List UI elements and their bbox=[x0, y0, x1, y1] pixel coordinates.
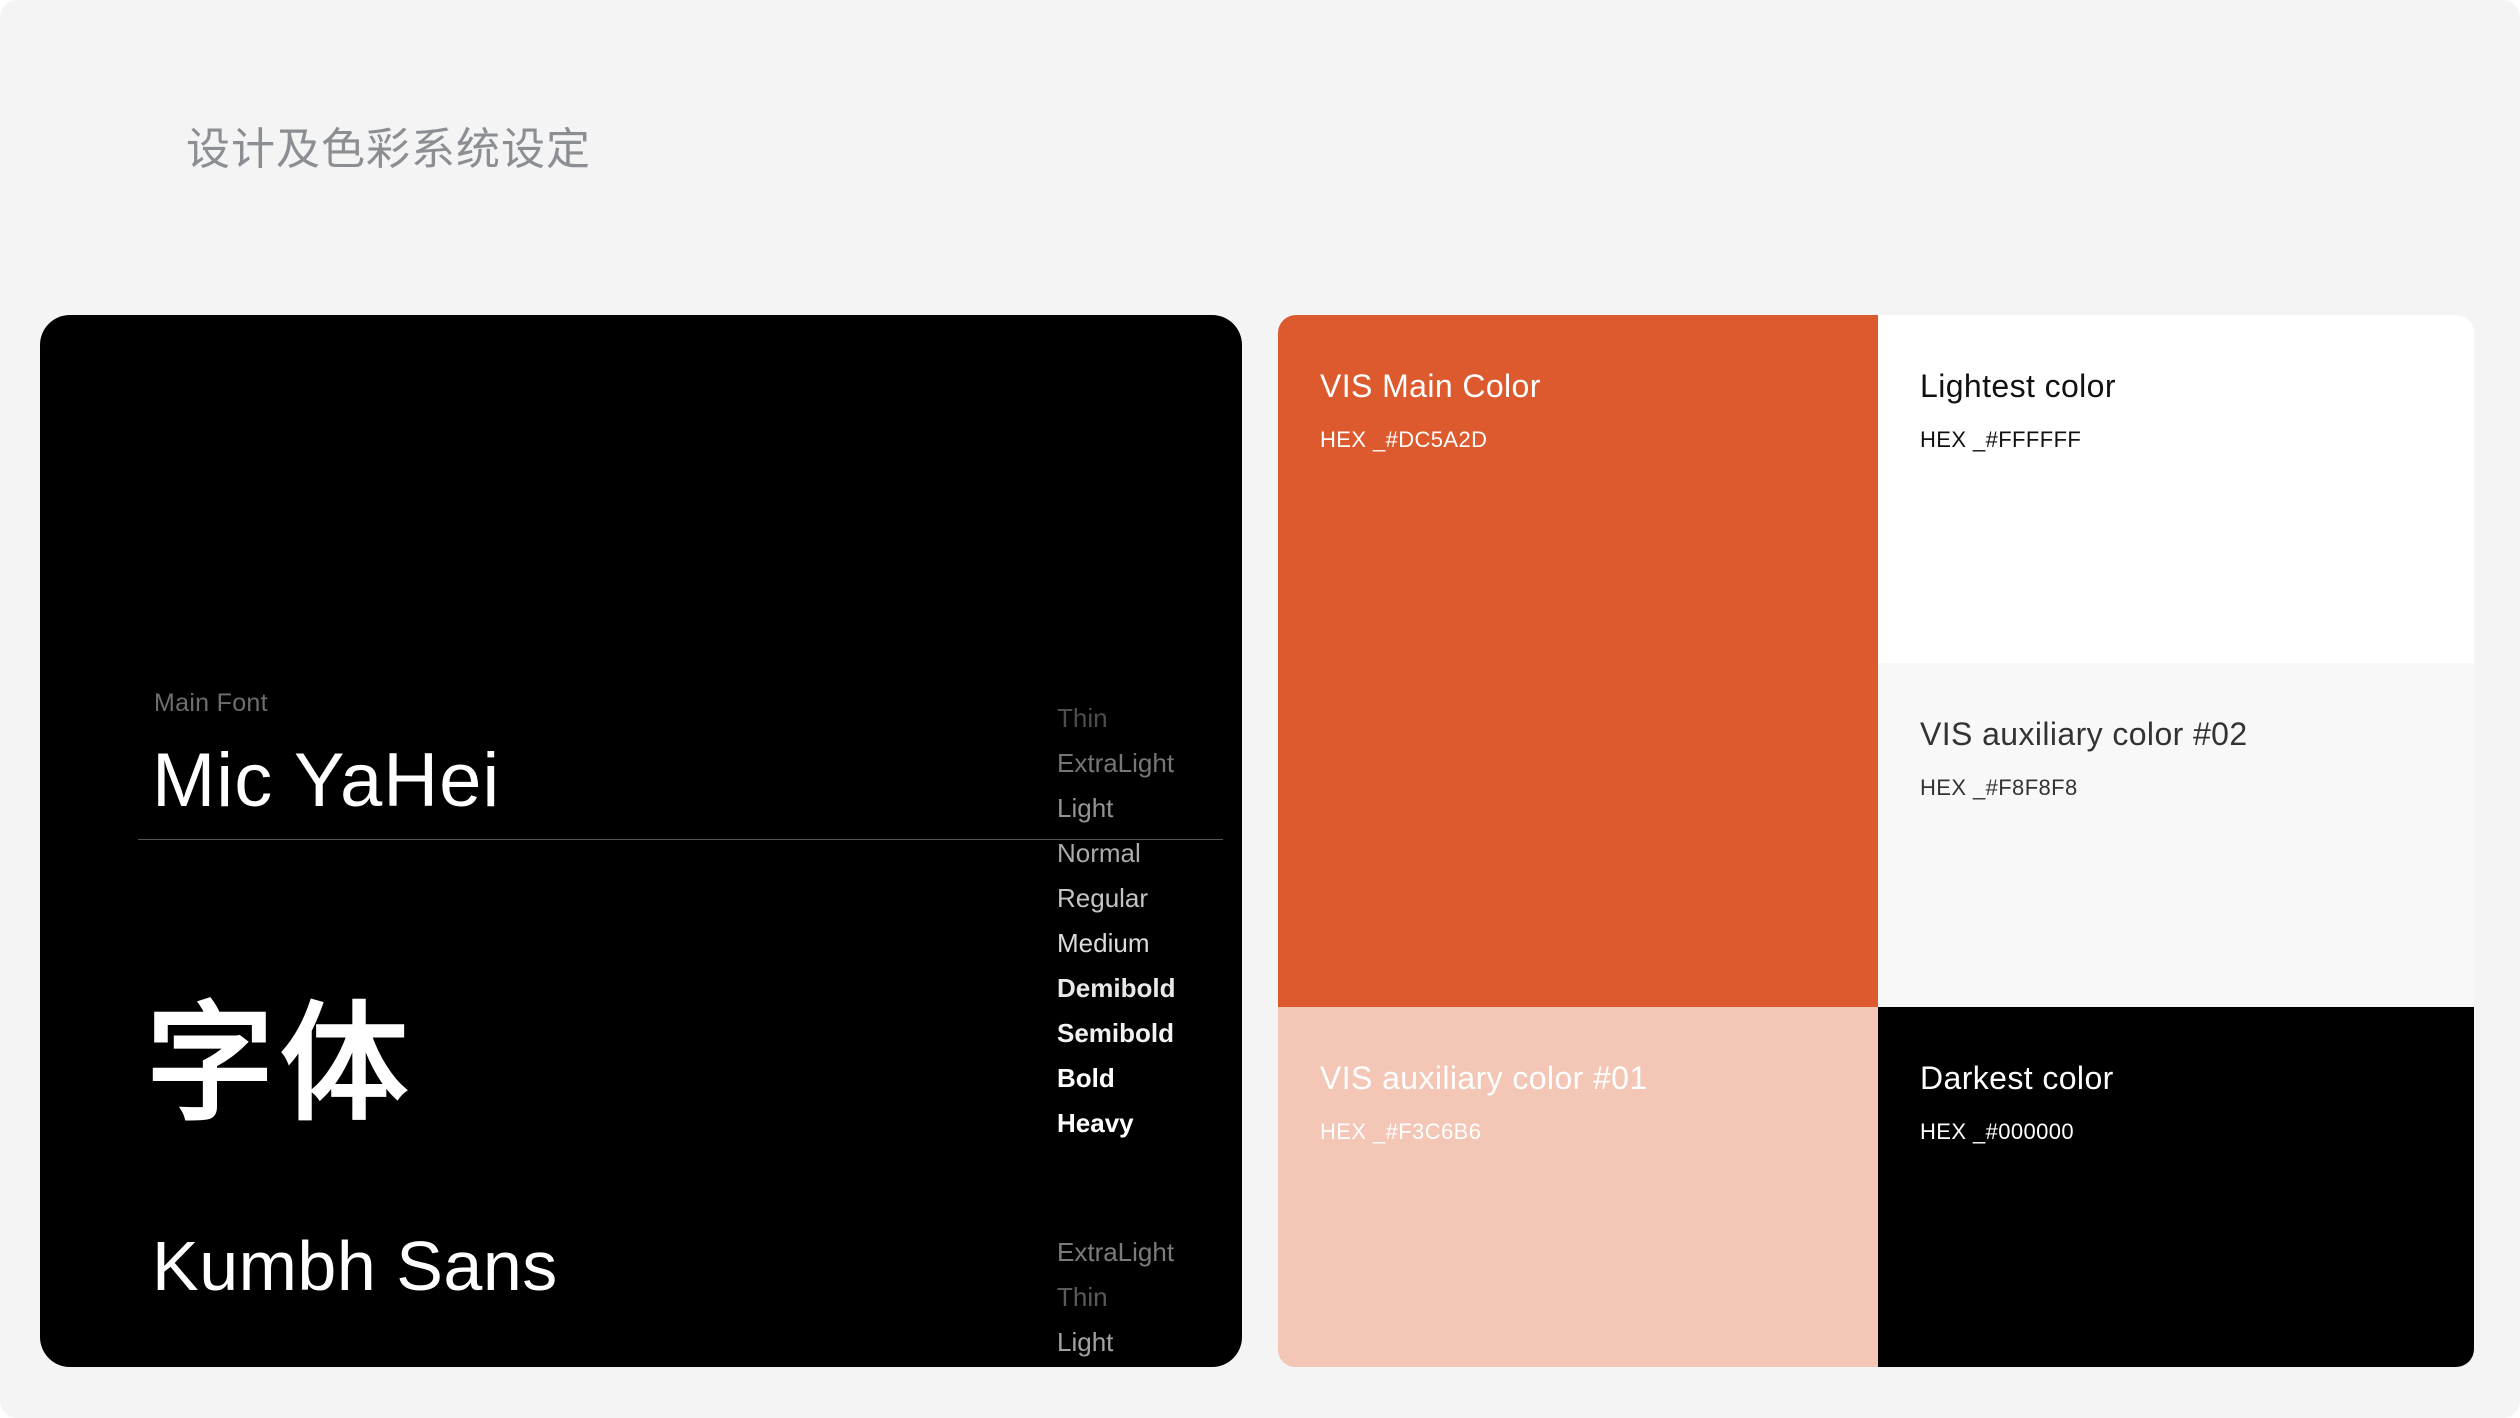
font-weight-item: Light bbox=[1057, 786, 1175, 831]
font-weight-item: Regular bbox=[1057, 1365, 1180, 1367]
font-weight-item: Normal bbox=[1057, 831, 1175, 876]
font-weight-item: Medium bbox=[1057, 921, 1175, 966]
swatch-hex-value: HEX _#000000 bbox=[1920, 1119, 2432, 1145]
primary-font-cjk-sample: 字体 bbox=[146, 1001, 414, 1129]
swatch-hex-value: HEX _#DC5A2D bbox=[1320, 427, 1836, 453]
font-weight-item: Regular bbox=[1057, 876, 1175, 921]
swatch-vis-auxiliary-color-01[interactable]: VIS auxiliary color #01 HEX _#F3C6B6 bbox=[1278, 1007, 1878, 1367]
swatch-hex-value: HEX _#FFFFFF bbox=[1920, 427, 2432, 453]
swatch-vis-auxiliary-color-02[interactable]: VIS auxiliary color #02 HEX _#F8F8F8 bbox=[1878, 663, 2474, 1007]
swatch-name: VIS auxiliary color #02 bbox=[1920, 715, 2432, 753]
font-weight-item: ExtraLight bbox=[1057, 741, 1175, 786]
swatch-name: Darkest color bbox=[1920, 1059, 2432, 1097]
primary-font-weight-list: ThinExtraLightLightNormalRegularMediumDe… bbox=[1057, 696, 1175, 1146]
page-title: 设计及色彩系统设定 bbox=[186, 126, 591, 174]
design-system-page: 设计及色彩系统设定 Main Font Mic YaHei 字体 Kumbh S… bbox=[0, 0, 2520, 1418]
main-font-label: Main Font bbox=[154, 689, 268, 718]
secondary-font-weight-list: ExtraLightThinLightRegularMediumSemiBold… bbox=[1057, 1230, 1180, 1367]
swatch-lightest-color[interactable]: Lightest color HEX _#FFFFFF bbox=[1878, 315, 2474, 663]
font-weight-item: Demibold bbox=[1057, 966, 1175, 1011]
swatch-name: VIS auxiliary color #01 bbox=[1320, 1059, 1836, 1097]
font-weight-item: Light bbox=[1057, 1320, 1180, 1365]
swatch-hex-value: HEX _#F8F8F8 bbox=[1920, 775, 2432, 801]
typography-card: Main Font Mic YaHei 字体 Kumbh Sans Fonts … bbox=[40, 315, 1242, 1367]
swatch-darkest-color[interactable]: Darkest color HEX _#000000 bbox=[1878, 1007, 2474, 1367]
font-weight-item: Heavy bbox=[1057, 1101, 1175, 1146]
primary-font-latin-sample: Mic YaHei bbox=[152, 743, 500, 819]
font-weight-item: Thin bbox=[1057, 696, 1175, 741]
color-palette-grid: VIS Main Color HEX _#DC5A2D Lightest col… bbox=[1278, 315, 2474, 1367]
swatch-hex-value: HEX _#F3C6B6 bbox=[1320, 1119, 1836, 1145]
swatch-name: Lightest color bbox=[1920, 367, 2432, 405]
secondary-font-latin-sample: Kumbh Sans bbox=[152, 1231, 558, 1301]
font-weight-item: Semibold bbox=[1057, 1011, 1175, 1056]
font-weight-item: Bold bbox=[1057, 1056, 1175, 1101]
font-weight-item: Thin bbox=[1057, 1275, 1180, 1320]
swatch-name: VIS Main Color bbox=[1320, 367, 1836, 405]
font-weight-item: ExtraLight bbox=[1057, 1230, 1180, 1275]
